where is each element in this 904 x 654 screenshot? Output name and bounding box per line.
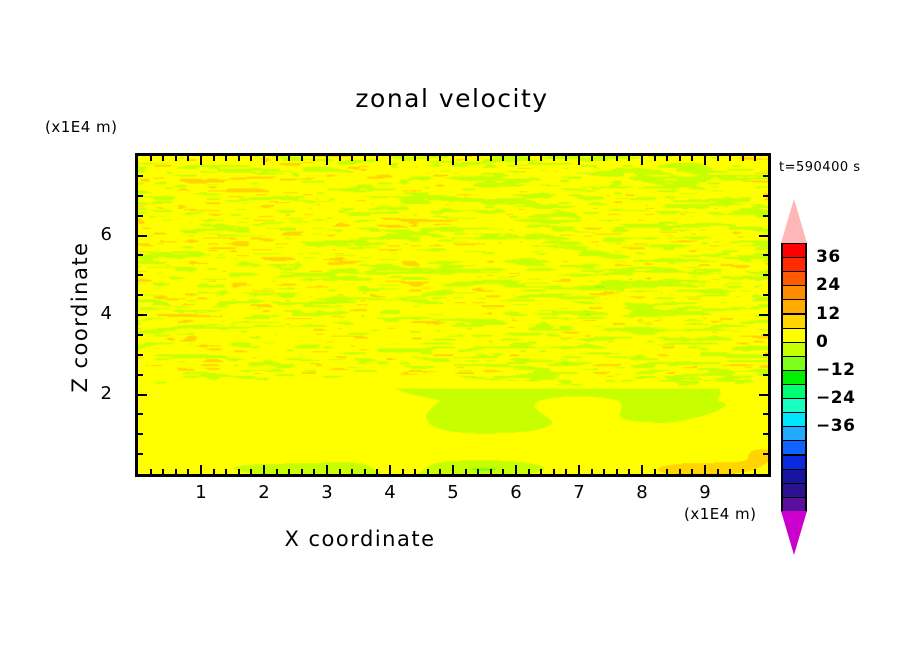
y-tick-minor (138, 354, 143, 356)
x-tick-minor-top (427, 156, 429, 161)
x-tick-minor-top (150, 156, 152, 161)
colorbar-tick-label: −36 (816, 416, 855, 436)
y-tick-minor (138, 413, 143, 415)
x-tick-minor (528, 469, 530, 474)
y-tick-major-right (759, 235, 768, 237)
x-tick-minor-top (742, 156, 744, 161)
colorbar-band (781, 469, 807, 484)
chart-title: zonal velocity (0, 84, 904, 113)
x-tick-minor (717, 469, 719, 474)
x-tick-minor (679, 469, 681, 474)
x-tick-minor-top (364, 156, 366, 161)
colorbar-band (781, 483, 807, 498)
colorbar-band (781, 370, 807, 385)
x-tick-major-top (515, 156, 517, 165)
x-tick-label: 5 (438, 482, 468, 503)
x-tick-minor-top (162, 156, 164, 161)
x-tick-minor-top (553, 156, 555, 161)
x-tick-minor (414, 469, 416, 474)
x-tick-minor (213, 469, 215, 474)
x-tick-minor-top (376, 156, 378, 161)
x-tick-minor (162, 469, 164, 474)
y-tick-minor-right (763, 195, 768, 197)
y-axis-units-label: (x1E4 m) (45, 118, 118, 136)
x-tick-minor-top (717, 156, 719, 161)
x-tick-minor (402, 469, 404, 474)
y-tick-minor-right (763, 175, 768, 177)
colorbar-band (781, 342, 807, 357)
x-tick-minor (603, 469, 605, 474)
x-tick-minor (225, 469, 227, 474)
colorbar-band (781, 285, 807, 300)
y-tick-minor (138, 254, 143, 256)
x-tick-minor (565, 469, 567, 474)
x-tick-label: 6 (501, 482, 531, 503)
x-tick-major (326, 465, 328, 474)
y-tick-minor (138, 215, 143, 217)
x-tick-minor (616, 469, 618, 474)
y-tick-minor (138, 374, 143, 376)
x-tick-minor (540, 469, 542, 474)
contour-plot-area (135, 153, 771, 477)
x-tick-minor-top (288, 156, 290, 161)
y-tick-label: 4 (88, 303, 112, 324)
y-tick-minor-right (763, 294, 768, 296)
x-tick-minor-top (187, 156, 189, 161)
y-tick-minor-right (763, 413, 768, 415)
x-tick-major-top (389, 156, 391, 165)
colorbar-tick-label: −24 (816, 388, 855, 408)
x-tick-minor-top (213, 156, 215, 161)
x-tick-minor (729, 469, 731, 474)
x-tick-minor (439, 469, 441, 474)
x-tick-label: 4 (375, 482, 405, 503)
colorbar-band (781, 257, 807, 272)
x-tick-minor-top (301, 156, 303, 161)
y-tick-label: 6 (88, 224, 112, 245)
x-tick-minor (754, 469, 756, 474)
y-tick-minor (138, 294, 143, 296)
contour-field (138, 156, 768, 474)
x-tick-minor-top (691, 156, 693, 161)
colorbar-band (781, 356, 807, 371)
colorbar-band (781, 426, 807, 441)
x-tick-minor (250, 469, 252, 474)
x-tick-minor (175, 469, 177, 474)
x-tick-minor (376, 469, 378, 474)
y-tick-major (138, 235, 147, 237)
colorbar-tick-label: −12 (816, 360, 855, 380)
x-tick-major (263, 465, 265, 474)
x-tick-minor-top (465, 156, 467, 161)
x-tick-minor (591, 469, 593, 474)
x-tick-label: 2 (249, 482, 279, 503)
x-tick-minor-top (351, 156, 353, 161)
x-tick-major (452, 465, 454, 474)
colorbar-band (781, 299, 807, 314)
y-tick-major-right (759, 394, 768, 396)
x-tick-minor (628, 469, 630, 474)
y-tick-minor (138, 433, 143, 435)
colorbar-tick-label: 0 (816, 332, 828, 352)
x-tick-minor (502, 469, 504, 474)
colorbar-band (781, 455, 807, 470)
y-tick-minor-right (763, 374, 768, 376)
colorbar-band (781, 271, 807, 286)
y-tick-minor-right (763, 215, 768, 217)
x-tick-minor-top (565, 156, 567, 161)
x-axis-units-label: (x1E4 m) (684, 505, 757, 523)
x-tick-minor (339, 469, 341, 474)
x-tick-major-top (578, 156, 580, 165)
x-tick-minor-top (313, 156, 315, 161)
x-tick-minor-top (276, 156, 278, 161)
y-tick-minor (138, 274, 143, 276)
x-tick-major-top (704, 156, 706, 165)
x-tick-label: 8 (627, 482, 657, 503)
x-tick-minor-top (502, 156, 504, 161)
x-tick-minor-top (616, 156, 618, 161)
colorbar-band (781, 328, 807, 343)
y-tick-minor-right (763, 334, 768, 336)
x-tick-minor-top (414, 156, 416, 161)
x-tick-minor (288, 469, 290, 474)
colorbar-tick-label: 24 (816, 275, 841, 295)
x-axis-title: X coordinate (0, 527, 720, 551)
y-tick-major-right (759, 314, 768, 316)
x-tick-minor (301, 469, 303, 474)
x-tick-minor (654, 469, 656, 474)
x-tick-minor (150, 469, 152, 474)
y-tick-minor (138, 453, 143, 455)
x-tick-minor-top (528, 156, 530, 161)
x-tick-major-top (200, 156, 202, 165)
x-tick-minor-top (238, 156, 240, 161)
x-tick-minor (238, 469, 240, 474)
x-tick-minor (477, 469, 479, 474)
x-tick-label: 9 (690, 482, 720, 503)
x-tick-minor (742, 469, 744, 474)
y-tick-minor (138, 334, 143, 336)
y-tick-minor (138, 195, 143, 197)
y-tick-minor-right (763, 453, 768, 455)
x-tick-minor (313, 469, 315, 474)
x-tick-minor-top (439, 156, 441, 161)
y-tick-minor (138, 175, 143, 177)
x-tick-major-top (452, 156, 454, 165)
x-tick-minor (465, 469, 467, 474)
x-tick-minor-top (175, 156, 177, 161)
time-annotation: t=590400 s (779, 160, 861, 175)
colorbar-band (781, 243, 807, 258)
x-tick-minor (364, 469, 366, 474)
y-tick-minor-right (763, 254, 768, 256)
x-tick-minor-top (666, 156, 668, 161)
x-tick-label: 3 (312, 482, 342, 503)
x-tick-minor (691, 469, 693, 474)
colorbar-band (781, 440, 807, 455)
colorbar-band (781, 398, 807, 413)
colorbar-band (781, 384, 807, 399)
x-tick-major-top (326, 156, 328, 165)
x-tick-minor-top (225, 156, 227, 161)
x-tick-label: 7 (564, 482, 594, 503)
y-tick-minor-right (763, 354, 768, 356)
x-tick-minor-top (402, 156, 404, 161)
x-tick-minor-top (490, 156, 492, 161)
colorbar-band (781, 497, 807, 512)
x-tick-minor-top (628, 156, 630, 161)
x-tick-minor (666, 469, 668, 474)
y-tick-minor-right (763, 433, 768, 435)
y-tick-label: 2 (88, 383, 112, 404)
x-tick-major-top (641, 156, 643, 165)
x-tick-minor (351, 469, 353, 474)
x-tick-minor-top (540, 156, 542, 161)
x-tick-major (641, 465, 643, 474)
x-tick-major (704, 465, 706, 474)
x-tick-minor-top (729, 156, 731, 161)
colorbar-under-arrow-icon (781, 511, 807, 555)
figure-root: zonal velocity (x1E4 m) (x1E4 m) t=59040… (0, 0, 904, 654)
x-tick-minor-top (477, 156, 479, 161)
x-tick-minor (276, 469, 278, 474)
x-tick-major (389, 465, 391, 474)
x-tick-minor-top (603, 156, 605, 161)
colorbar-band (781, 314, 807, 329)
colorbar-over-arrow-icon (781, 199, 807, 243)
x-tick-major-top (263, 156, 265, 165)
y-tick-minor-right (763, 274, 768, 276)
x-tick-minor-top (654, 156, 656, 161)
x-tick-minor-top (679, 156, 681, 161)
colorbar-tick-label: 36 (816, 247, 841, 267)
x-tick-minor (553, 469, 555, 474)
x-tick-minor (187, 469, 189, 474)
x-tick-minor (427, 469, 429, 474)
colorbar-tick-label: 12 (816, 304, 841, 324)
x-tick-minor-top (754, 156, 756, 161)
y-tick-major (138, 394, 147, 396)
colorbar-band (781, 412, 807, 427)
x-tick-label: 1 (186, 482, 216, 503)
x-tick-minor-top (250, 156, 252, 161)
x-tick-minor-top (591, 156, 593, 161)
x-tick-minor-top (339, 156, 341, 161)
x-tick-major (200, 465, 202, 474)
x-tick-major (515, 465, 517, 474)
x-tick-minor (490, 469, 492, 474)
y-tick-major (138, 314, 147, 316)
x-tick-major (578, 465, 580, 474)
